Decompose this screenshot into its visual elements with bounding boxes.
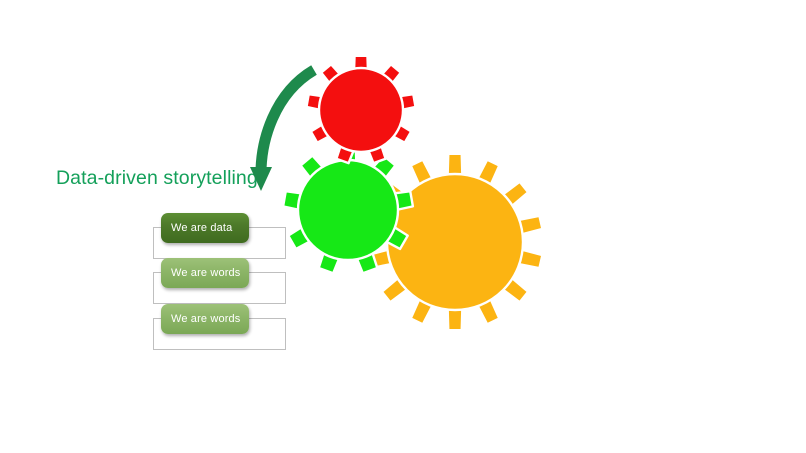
red-gear-body bbox=[319, 68, 403, 152]
callout-row[interactable]: We are words bbox=[153, 272, 286, 304]
red-gear bbox=[306, 56, 415, 163]
callout-row[interactable]: We are data bbox=[153, 227, 286, 259]
gear-diagram-svg bbox=[255, 45, 555, 345]
curved-down-arrow bbox=[250, 70, 314, 191]
callout-chip[interactable]: We are words bbox=[161, 258, 249, 288]
page-title: Data-driven storytelling bbox=[56, 167, 258, 190]
callout-chip[interactable]: We are words bbox=[161, 304, 249, 334]
gear-diagram bbox=[255, 45, 555, 345]
callout-row[interactable]: We are words bbox=[153, 318, 286, 350]
green-gear-body bbox=[298, 160, 398, 260]
callout-chip[interactable]: We are data bbox=[161, 213, 249, 243]
slide-canvas: Data-driven storytelling bbox=[0, 0, 806, 453]
